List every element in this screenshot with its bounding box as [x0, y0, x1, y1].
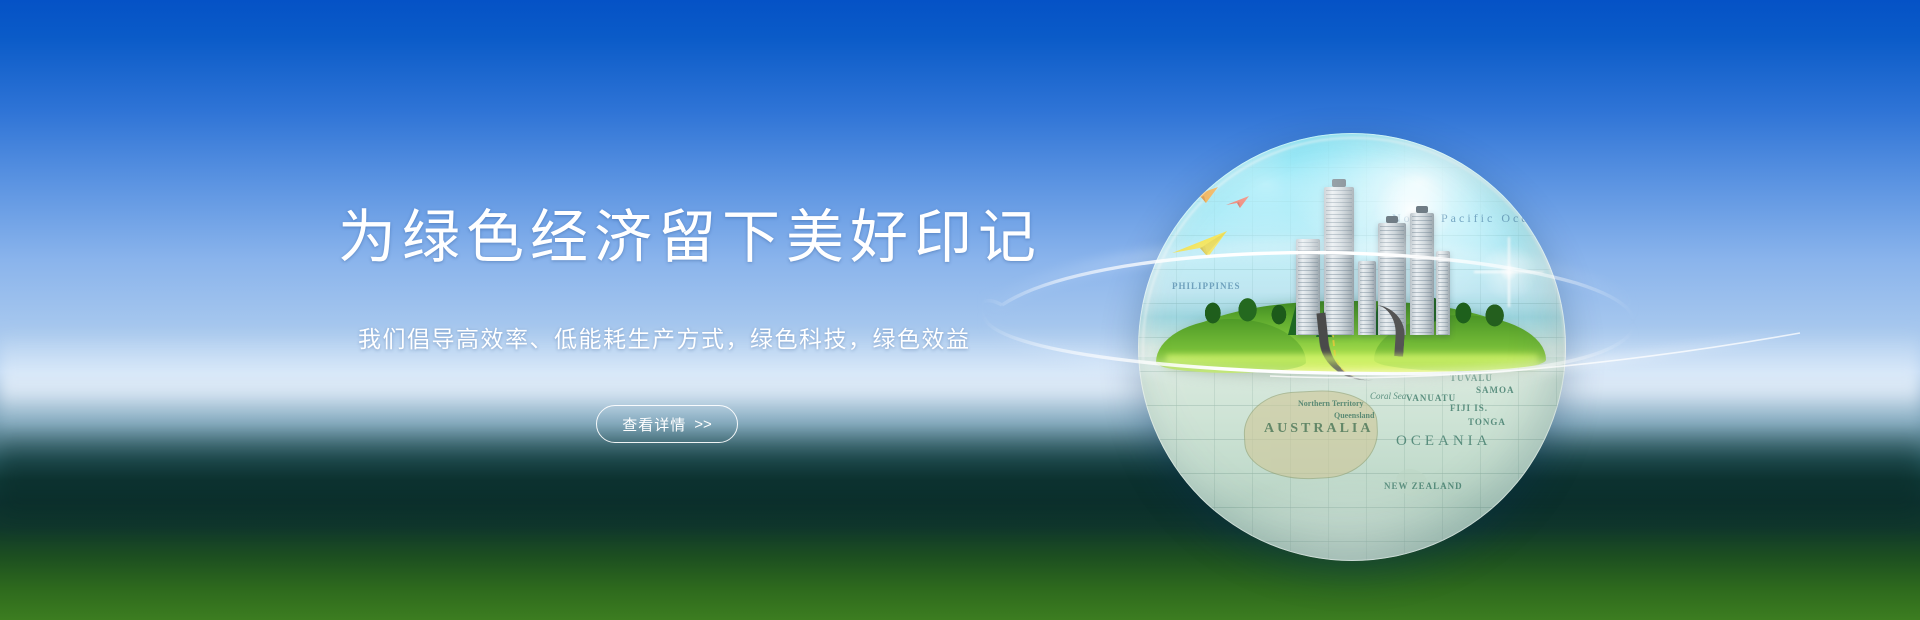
hill-edge-glow — [1166, 355, 1538, 371]
hero-banner: OCEANIA AUSTRALIA NEW ZEALAND VANUATU FI… — [0, 0, 1920, 620]
globe-sphere: OCEANIA AUSTRALIA NEW ZEALAND VANUATU FI… — [1138, 133, 1566, 561]
yellow-paper-plane-icon — [1172, 229, 1230, 259]
banner-copy: 为绿色经济留下美好印记 我们倡导高效率、低能耗生产方式，绿色科技，绿色效益 查看… — [0, 0, 1060, 620]
view-details-button[interactable]: 查看详情 >> — [596, 405, 738, 443]
banner-subtitle: 我们倡导高效率、低能耗生产方式，绿色科技，绿色效益 — [358, 328, 971, 351]
double-chevron-right-icon: >> — [694, 416, 712, 433]
building — [1410, 213, 1434, 335]
view-details-label: 查看详情 — [622, 414, 686, 435]
orange-paper-plane-icon — [1184, 185, 1220, 205]
building — [1436, 251, 1450, 335]
globe-illustration: OCEANIA AUSTRALIA NEW ZEALAND VANUATU FI… — [1138, 133, 1566, 561]
red-paper-plane-icon — [1226, 195, 1250, 209]
page-title: 为绿色经济留下美好印记 — [338, 209, 1042, 267]
